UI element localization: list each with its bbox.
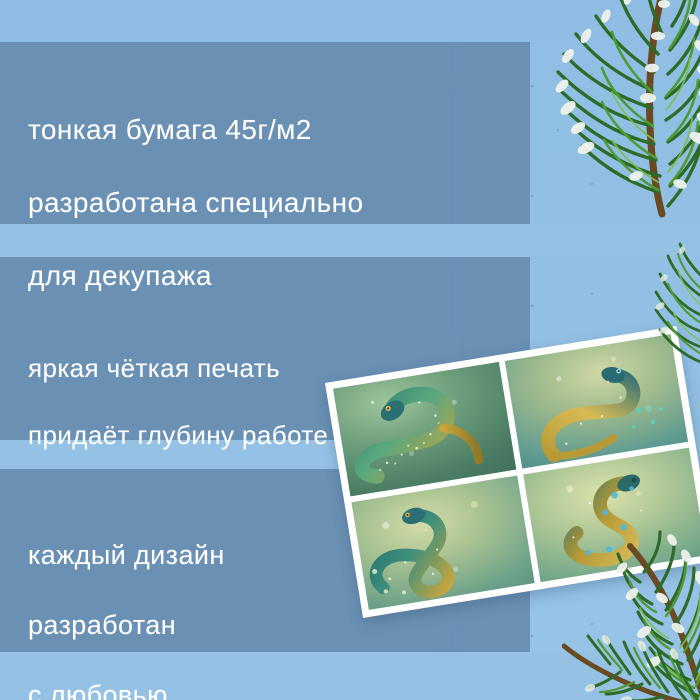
text-line: придаёт глубину работе (28, 419, 328, 453)
text-line: тонкая бумага 45г/м2 (28, 112, 363, 148)
pine-branch-right (626, 236, 700, 386)
feature-design-love-text: каждый дизайн разработан с любовью (28, 503, 225, 700)
text-line: яркая чёткая печать (28, 352, 328, 386)
feature-print-quality-text: яркая чёткая печать придаёт глубину рабо… (28, 318, 328, 487)
text-line: для декупажа (28, 258, 363, 294)
pine-branch-bottom-right-fan (562, 634, 700, 700)
text-line: разработана специально (28, 185, 363, 221)
panel-bottom-left (351, 475, 534, 609)
text-line: каждый дизайн (28, 538, 225, 573)
promo-canvas: тонкая бумага 45г/м2 разработана специал… (0, 0, 700, 700)
snake-illustration-3 (351, 475, 534, 609)
snake-illustration-1 (333, 362, 516, 496)
panel-top-left (333, 362, 516, 496)
pine-branch-top-right (452, 0, 700, 226)
text-line: разработан (28, 608, 225, 643)
text-line: с любовью (28, 678, 225, 700)
feature-paper-weight-text: тонкая бумага 45г/м2 разработана специал… (28, 76, 363, 331)
